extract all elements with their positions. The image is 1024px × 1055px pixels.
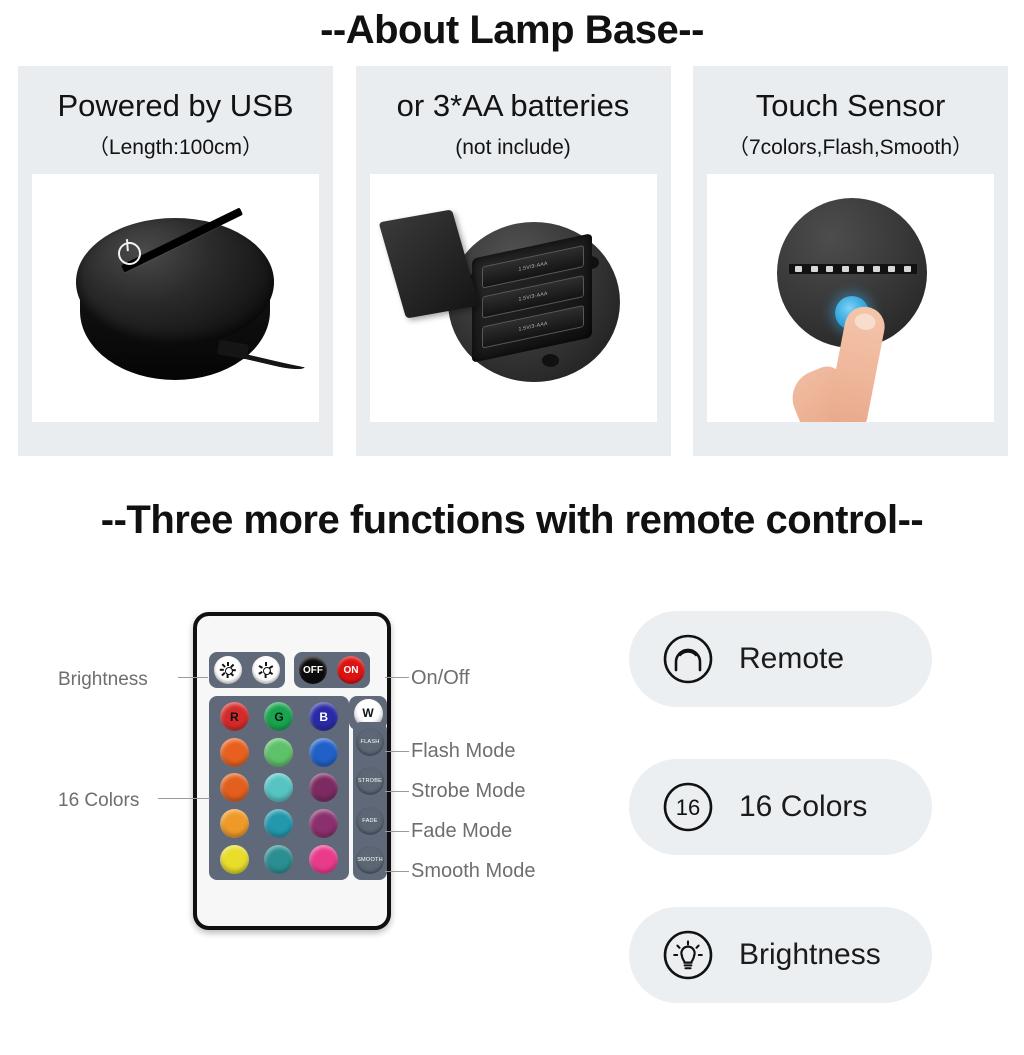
leader-line-fade-mode [385,831,409,832]
color-button[interactable] [309,773,338,802]
panel-touch-sensor: Touch Sensor （7colors,Flash,Smooth） [693,66,1008,456]
led [795,266,802,272]
led-strip [789,264,917,274]
fingernail [853,312,877,332]
off-button[interactable]: OFF [299,656,327,684]
brightness-down-icon [259,663,273,677]
color-button[interactable] [220,773,249,802]
svg-text:16: 16 [676,795,700,820]
color-button[interactable] [309,845,338,874]
lamp-base-top-surface [76,218,274,346]
color-button[interactable] [220,845,249,874]
led [873,266,880,272]
brightness-button-pad [209,652,285,688]
sixteen-circle-icon: 16 [661,780,715,834]
touch-sensor-photo [707,174,994,422]
color-button[interactable] [264,809,293,838]
section-title-remote-functions: --Three more functions with remote contr… [0,498,1024,543]
callout-strobe-mode: Strobe Mode [411,781,526,801]
bulb-icon [661,928,715,982]
color-button-green[interactable]: G [264,702,293,731]
remote-signal-icon [661,632,715,686]
feature-badge-list: Remote 16 16 Colors [629,611,932,1055]
page-title-about-lamp-base: --About Lamp Base-- [0,8,1024,53]
leader-line-16-colors [158,798,210,799]
led [811,266,818,272]
color-button[interactable] [264,773,293,802]
rubber-foot [542,354,559,367]
callout-fade-mode: Fade Mode [411,821,512,841]
color-button-blue[interactable]: B [309,702,338,731]
panel-title: or 3*AA batteries [397,90,630,121]
color-button[interactable] [309,738,338,767]
strobe-mode-button[interactable]: STROBE [356,767,384,795]
brightness-down-button[interactable] [252,656,280,684]
badge-remote[interactable]: Remote [629,611,932,707]
panel-aa-batteries: or 3*AA batteries (not include) 1.5V/3-A… [356,66,671,456]
color-button-red[interactable]: R [220,702,249,731]
panel-subtitle: （Length:100cm） [88,137,263,158]
color-button[interactable] [220,738,249,767]
smooth-mode-button[interactable]: SMOOTH [356,846,384,874]
panel-title: Touch Sensor [756,90,946,121]
leader-line-on-off [385,677,409,678]
brightness-up-button[interactable] [214,656,242,684]
callout-on-off: On/Off [411,668,470,688]
led [904,266,911,272]
callout-16-colors: 16 Colors [58,791,139,810]
color-button[interactable] [220,809,249,838]
panel-subtitle: (not include) [455,137,571,158]
badge-label: Brightness [739,938,881,972]
led [857,266,864,272]
badge-label: 16 Colors [739,790,867,824]
battery-compartment-photo: 1.5V/3-AAA 1.5V/3-AAA 1.5V/3-AAA [370,174,657,422]
color-button-grid: R G B [209,696,349,880]
panel-title: Powered by USB [57,90,293,121]
led [888,266,895,272]
flash-mode-button[interactable]: FLASH [356,728,384,756]
callout-smooth-mode: Smooth Mode [411,861,536,881]
callout-brightness: Brightness [58,670,148,689]
usb-cable [227,341,306,372]
led [842,266,849,272]
led [826,266,833,272]
remote-control: OFF ON R G B W FLASH STROB [193,612,391,930]
power-button-pad: OFF ON [294,652,370,688]
badge-brightness[interactable]: Brightness [629,907,932,1003]
product-infographic: --About Lamp Base-- Powered by USB （Leng… [0,0,1024,1024]
brightness-up-icon [221,663,235,677]
color-button[interactable] [264,845,293,874]
leader-line-smooth-mode [385,871,409,872]
badge-16-colors[interactable]: 16 16 Colors [629,759,932,855]
leader-line-strobe-mode [385,791,409,792]
callout-flash-mode: Flash Mode [411,741,516,761]
leader-line-brightness [178,677,208,678]
on-button[interactable]: ON [337,656,365,684]
mode-button-pad: FLASH STROBE FADE SMOOTH [353,722,387,880]
leader-line-flash-mode [385,751,409,752]
lamp-base-panels: Powered by USB （Length:100cm） or 3*AA ba… [18,66,1008,456]
lamp-base-usb-photo [32,174,319,422]
color-button[interactable] [309,809,338,838]
color-button[interactable] [264,738,293,767]
badge-label: Remote [739,642,844,676]
panel-subtitle: （7colors,Flash,Smooth） [728,137,973,158]
fade-mode-button[interactable]: FADE [356,807,384,835]
battery-cover [378,209,479,318]
panel-powered-by-usb: Powered by USB （Length:100cm） [18,66,333,456]
